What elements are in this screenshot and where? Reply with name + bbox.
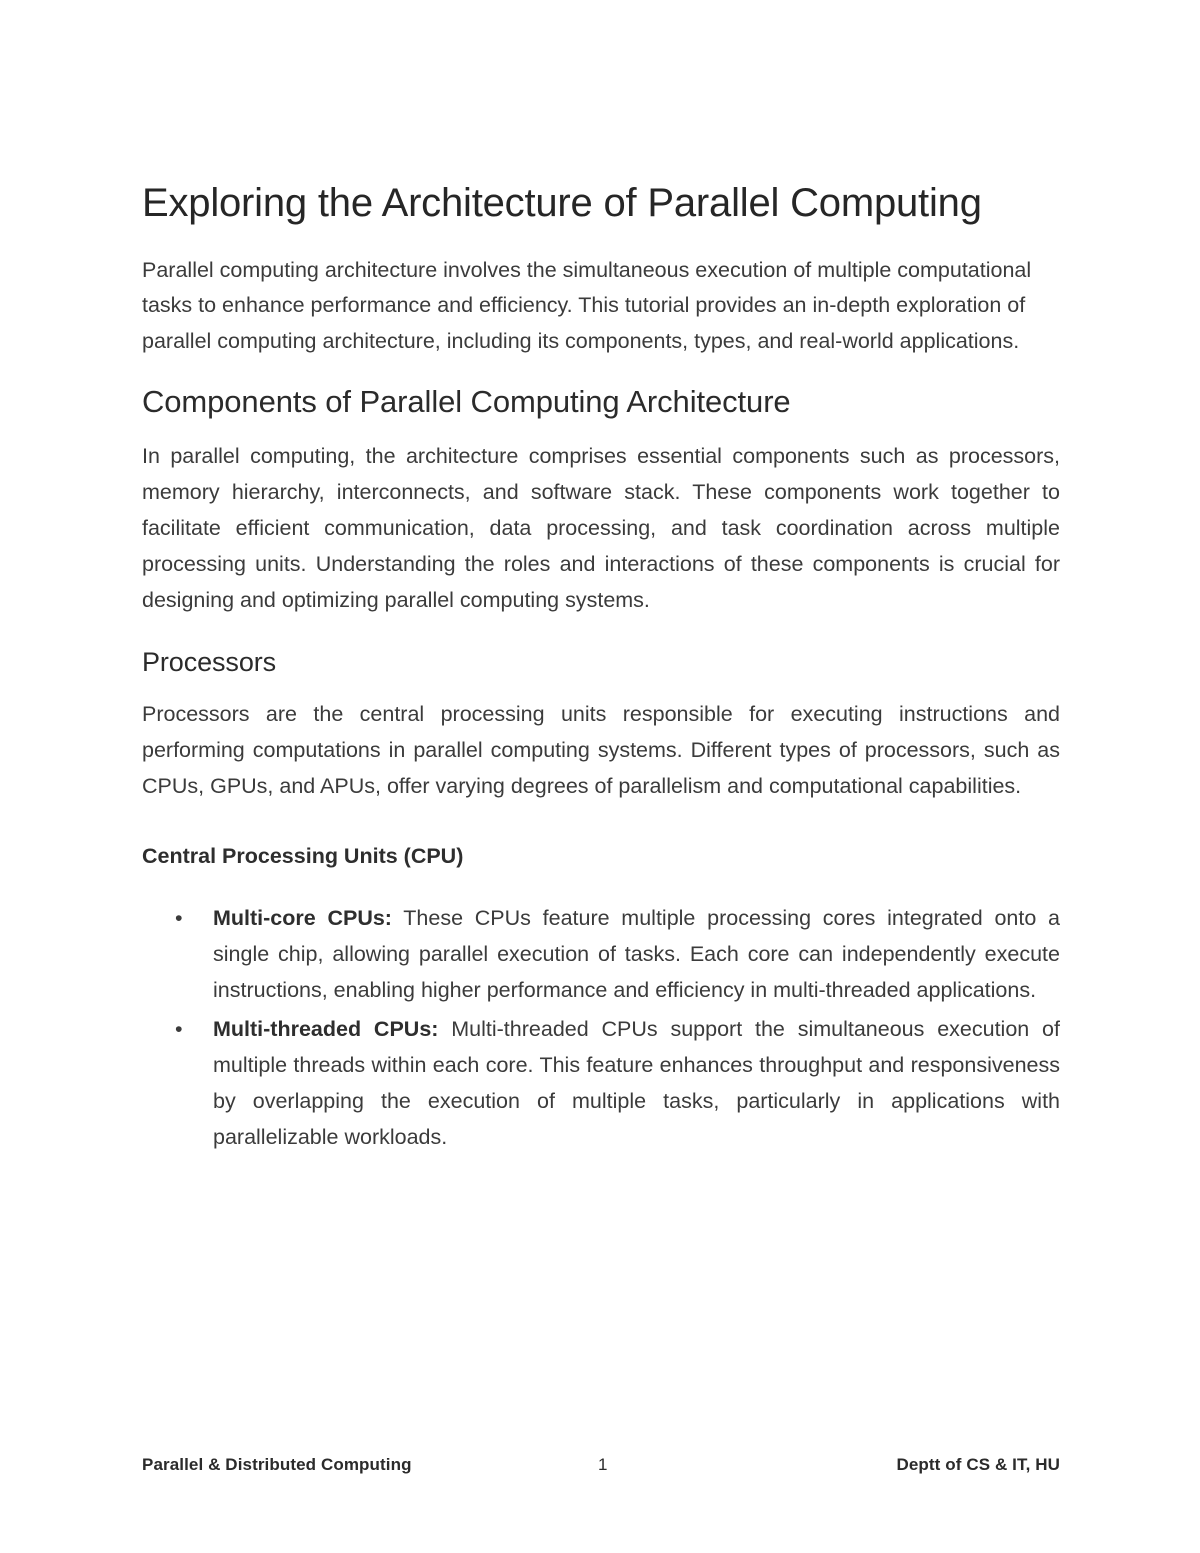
list-item-term: Multi-core CPUs:	[213, 906, 392, 930]
footer-page-number: 1	[598, 1455, 608, 1475]
components-paragraph: In parallel computing, the architecture …	[142, 423, 1060, 619]
list-item: •Multi-core CPUs: These CPUs feature mul…	[142, 900, 1060, 1008]
page-footer: Parallel & Distributed Computing 1 Deptt…	[142, 1455, 1060, 1485]
list-item-term: Multi-threaded CPUs:	[213, 1017, 438, 1041]
footer-course-label: Parallel & Distributed Computing	[142, 1455, 412, 1475]
subheading-central-processing-units: Central Processing Units (CPU)	[142, 804, 1060, 874]
list-item: •Multi-threaded CPUs: Multi-threaded CPU…	[142, 1011, 1060, 1155]
section-heading-processors: Processors	[142, 618, 1060, 680]
page-title: Exploring the Architecture of Parallel C…	[142, 0, 1060, 233]
cpu-bullet-list: •Multi-core CPUs: These CPUs feature mul…	[142, 874, 1060, 1155]
bullet-point-icon: •	[175, 1011, 183, 1047]
bullet-point-icon: •	[175, 900, 183, 936]
footer-department-label: Deptt of CS & IT, HU	[897, 1455, 1061, 1475]
intro-paragraph: Parallel computing architecture involves…	[142, 233, 1060, 359]
document-page: Exploring the Architecture of Parallel C…	[0, 0, 1200, 1553]
processors-paragraph: Processors are the central processing un…	[142, 681, 1060, 804]
section-heading-components: Components of Parallel Computing Archite…	[142, 359, 1060, 423]
document-content: Exploring the Architecture of Parallel C…	[142, 0, 1060, 1157]
